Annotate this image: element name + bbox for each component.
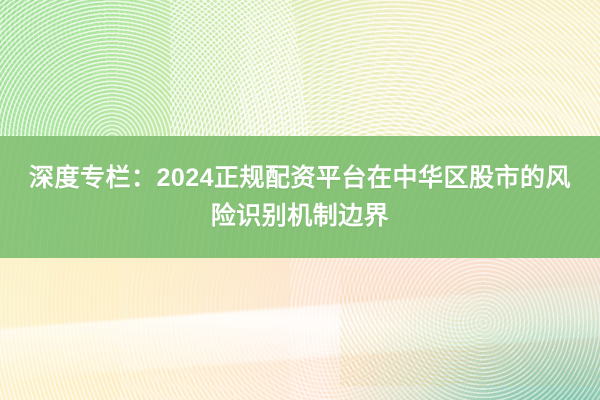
guilloche-rings-top-right <box>170 0 600 136</box>
guilloche-rings-bottom <box>0 258 600 400</box>
highlight-ridge <box>0 280 600 383</box>
top-decorative-band <box>0 0 600 136</box>
guilloche-rings-top-left-outer <box>0 0 260 136</box>
bottom-decorative-band <box>0 258 600 400</box>
guilloche-rings-bottom-outer <box>120 260 600 400</box>
guilloche-rings-bottom-right <box>290 258 600 400</box>
gold-thread-accent <box>340 266 600 386</box>
title-band: 深度专栏：2024正规配资平台在中华区股市的风险识别机制边界 <box>0 136 600 258</box>
title-container: 深度专栏：2024正规配资平台在中华区股市的风险识别机制边界 <box>0 136 600 258</box>
guilloche-rings-top-left <box>0 0 324 136</box>
article-banner: 深度专栏：2024正规配资平台在中华区股市的风险识别机制边界 <box>0 0 600 400</box>
banner-title: 深度专栏：2024正规配资平台在中华区股市的风险识别机制边界 <box>20 159 580 235</box>
teal-corner-wash <box>330 260 600 400</box>
guilloche-rings-top-right-outer <box>240 10 600 136</box>
